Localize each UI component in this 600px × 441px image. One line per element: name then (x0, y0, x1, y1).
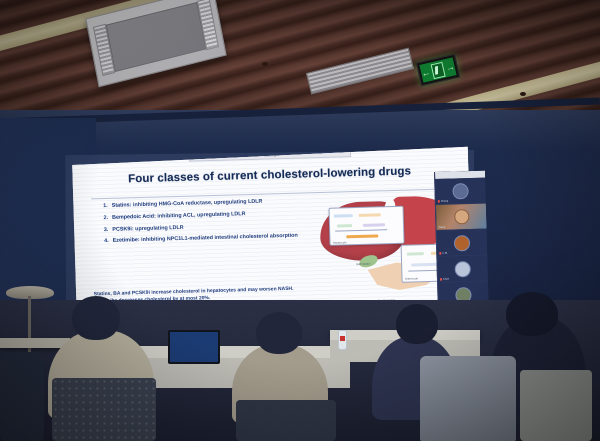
ceiling-sensor (520, 92, 526, 96)
bullet-term: PCSK9i: (112, 226, 133, 233)
participant-name: Chen (440, 278, 449, 281)
desk (0, 338, 70, 348)
participant-tile[interactable]: Zhang (435, 178, 486, 205)
mic-muted-icon (439, 252, 441, 255)
name-label: Chen (443, 278, 449, 281)
bullet-number: 3. (104, 227, 109, 234)
exit-sign-face: ← → (419, 57, 456, 82)
jacket-on-chair (420, 356, 516, 441)
participant-tile[interactable]: Chen (437, 256, 488, 283)
bullet-term: Bempedoic Acid: (112, 213, 156, 220)
ac-grille (106, 2, 206, 72)
laptop-monitor[interactable] (168, 330, 220, 364)
chair-back (520, 370, 592, 441)
avatar (452, 183, 468, 199)
avatar (454, 261, 470, 277)
bullet-number: 1. (103, 203, 108, 210)
mic-muted-icon (440, 278, 442, 281)
inset-label: Hepatocyte (333, 241, 347, 244)
attendee-head (396, 304, 438, 344)
hepatocyte-inset: Hepatocyte (328, 206, 405, 246)
presentation-slide: Meeting Four classes of current choleste… (70, 146, 472, 319)
participant-name: Zhang (438, 200, 448, 203)
mic-muted-icon (438, 200, 440, 203)
projection-screen[interactable]: Meeting Four classes of current choleste… (70, 146, 472, 319)
inset-label: Enterocyte (405, 278, 418, 281)
attendee-head (256, 312, 302, 354)
bullet-term: Statins: (112, 202, 132, 209)
bullet-text: inhibiting NPC1L1-mediated intestinal ch… (141, 233, 298, 243)
participant-tile[interactable]: Li M. (437, 230, 488, 257)
attendee-head (72, 296, 120, 340)
monitor-screen (170, 332, 218, 362)
bullet-term: Ezetimibe: (113, 237, 140, 244)
bullet-text: upregulating LDLR (135, 224, 184, 231)
participant-strip[interactable]: Zhang Wang Li M. Chen (434, 171, 489, 320)
participant-name: Wang (439, 226, 446, 229)
running-man-icon (430, 61, 445, 78)
attendee-head (506, 292, 558, 336)
desk (120, 346, 350, 358)
name-label: Wang (439, 226, 446, 229)
chair-back (236, 400, 336, 441)
diagram-label-gallbladder: Gall bladder (356, 262, 371, 265)
water-bottle (338, 330, 347, 350)
avatar (454, 209, 469, 224)
participant-name: Li M. (439, 252, 448, 255)
list-item: 4. Ezetimibe: inhibiting NPC1L1-mediated… (104, 232, 323, 245)
slide-bullet-list: 1. Statins: inhibiting HMG-CoA reductase… (103, 197, 323, 250)
list-item: 2. Bempedoic Acid: inhibiting ACL, upreg… (103, 209, 322, 222)
bullet-number: 4. (104, 238, 109, 245)
name-label: Zhang (441, 200, 448, 203)
lecture-room-photo: ← → Meeting Four classes of current chol… (0, 0, 600, 441)
avatar (454, 235, 470, 251)
floor-lamp-pole (28, 296, 31, 358)
exit-arrow-right-icon: → (445, 62, 456, 73)
ceiling-sensor (262, 62, 268, 66)
name-label: Li M. (442, 252, 448, 255)
chair-back (0, 352, 44, 441)
list-item: 3. PCSK9i: upregulating LDLR (104, 221, 323, 234)
chair-back (52, 378, 156, 441)
participant-tile[interactable]: Wang (436, 204, 487, 231)
bullet-text: inhibiting ACL, upregulating LDLR (157, 211, 245, 219)
exit-arrow-left-icon: ← (420, 67, 431, 78)
bullet-number: 2. (103, 215, 108, 222)
